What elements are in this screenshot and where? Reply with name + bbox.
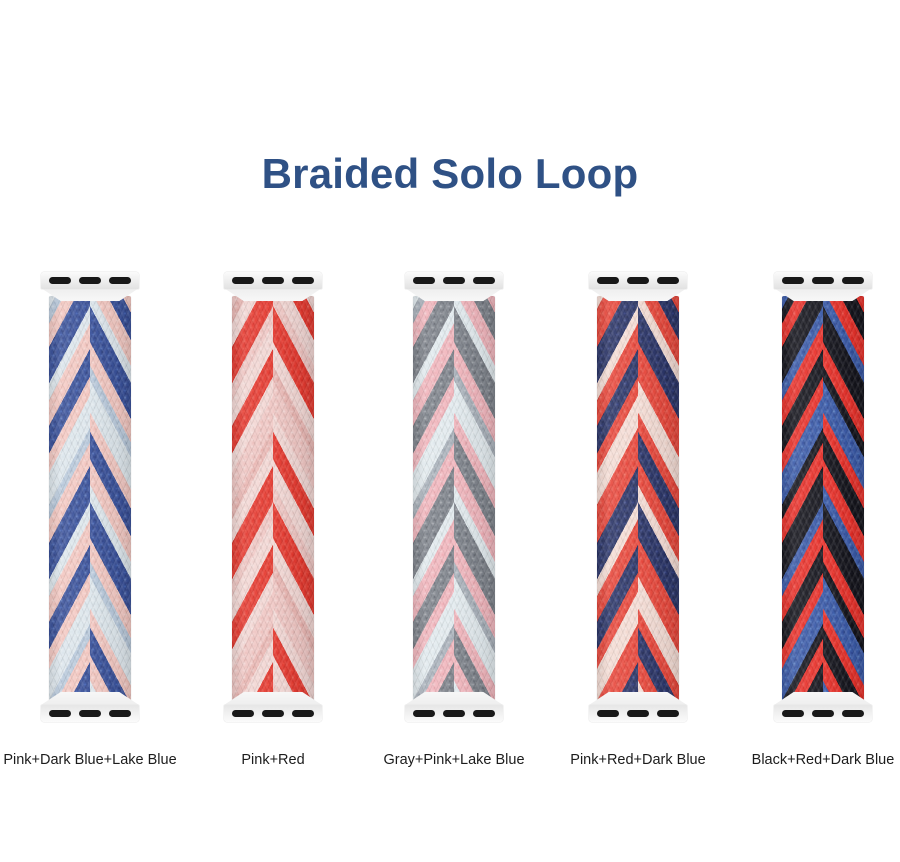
product-image-canvas: Braided Solo Loop bbox=[0, 0, 900, 862]
lug-slot-icon bbox=[597, 277, 619, 284]
lug-slot-icon bbox=[627, 710, 649, 717]
watch-band-2 bbox=[183, 268, 363, 740]
lug-slot-icon bbox=[79, 277, 101, 284]
braided-strap bbox=[782, 296, 864, 708]
band-lug-bottom bbox=[41, 705, 139, 722]
band-lug-bottom bbox=[224, 705, 322, 722]
product-variant-row: Pink+Dark Blue+Lake Blue bbox=[0, 268, 900, 788]
lug-slot-icon bbox=[842, 710, 864, 717]
lug-slot-icon bbox=[292, 277, 314, 284]
braided-strap bbox=[413, 296, 495, 708]
band-lug-top bbox=[589, 272, 687, 289]
lug-slot-icon bbox=[782, 277, 804, 284]
variant-label: Pink+Red+Dark Blue bbox=[538, 750, 738, 770]
lug-slot-icon bbox=[413, 277, 435, 284]
lug-slot-icon bbox=[109, 277, 131, 284]
product-variant-3[interactable]: Gray+Pink+Lake Blue bbox=[364, 268, 544, 788]
lug-slot-icon bbox=[443, 277, 465, 284]
lug-slot-icon bbox=[292, 710, 314, 717]
lug-slot-icon bbox=[262, 710, 284, 717]
lug-slot-icon bbox=[413, 710, 435, 717]
variant-label: Black+Red+Dark Blue bbox=[723, 750, 900, 770]
product-variant-1[interactable]: Pink+Dark Blue+Lake Blue bbox=[0, 268, 180, 788]
watch-band-1 bbox=[0, 268, 180, 740]
strap-color-pattern bbox=[782, 296, 864, 708]
band-lug-top bbox=[774, 272, 872, 289]
lug-slot-icon bbox=[232, 277, 254, 284]
variant-label: Pink+Red bbox=[173, 750, 373, 770]
watch-band-4 bbox=[548, 268, 728, 740]
lug-slot-icon bbox=[842, 277, 864, 284]
strap-color-pattern bbox=[597, 296, 679, 708]
band-lug-bottom bbox=[589, 705, 687, 722]
lug-slot-icon bbox=[657, 710, 679, 717]
strap-color-pattern bbox=[49, 296, 131, 708]
lug-slot-icon bbox=[49, 710, 71, 717]
page-title: Braided Solo Loop bbox=[0, 146, 900, 202]
lug-slot-icon bbox=[627, 277, 649, 284]
lug-slot-icon bbox=[782, 710, 804, 717]
lug-slot-icon bbox=[812, 277, 834, 284]
lug-slot-icon bbox=[657, 277, 679, 284]
lug-slot-icon bbox=[473, 277, 495, 284]
product-variant-5[interactable]: Black+Red+Dark Blue bbox=[733, 268, 900, 788]
watch-band-3 bbox=[364, 268, 544, 740]
band-lug-top bbox=[224, 272, 322, 289]
lug-slot-icon bbox=[79, 710, 101, 717]
lug-slot-icon bbox=[49, 277, 71, 284]
band-lug-top bbox=[405, 272, 503, 289]
braided-strap bbox=[232, 296, 314, 708]
variant-label: Pink+Dark Blue+Lake Blue bbox=[0, 750, 190, 770]
lug-slot-icon bbox=[473, 710, 495, 717]
strap-color-pattern bbox=[413, 296, 495, 708]
lug-slot-icon bbox=[262, 277, 284, 284]
lug-slot-icon bbox=[597, 710, 619, 717]
braided-strap bbox=[597, 296, 679, 708]
product-variant-4[interactable]: Pink+Red+Dark Blue bbox=[548, 268, 728, 788]
band-lug-top bbox=[41, 272, 139, 289]
variant-label: Gray+Pink+Lake Blue bbox=[354, 750, 554, 770]
lug-slot-icon bbox=[812, 710, 834, 717]
watch-band-5 bbox=[733, 268, 900, 740]
band-lug-bottom bbox=[774, 705, 872, 722]
braided-strap bbox=[49, 296, 131, 708]
band-lug-bottom bbox=[405, 705, 503, 722]
product-variant-2[interactable]: Pink+Red bbox=[183, 268, 363, 788]
lug-slot-icon bbox=[232, 710, 254, 717]
lug-slot-icon bbox=[443, 710, 465, 717]
lug-slot-icon bbox=[109, 710, 131, 717]
strap-color-pattern bbox=[232, 296, 314, 708]
